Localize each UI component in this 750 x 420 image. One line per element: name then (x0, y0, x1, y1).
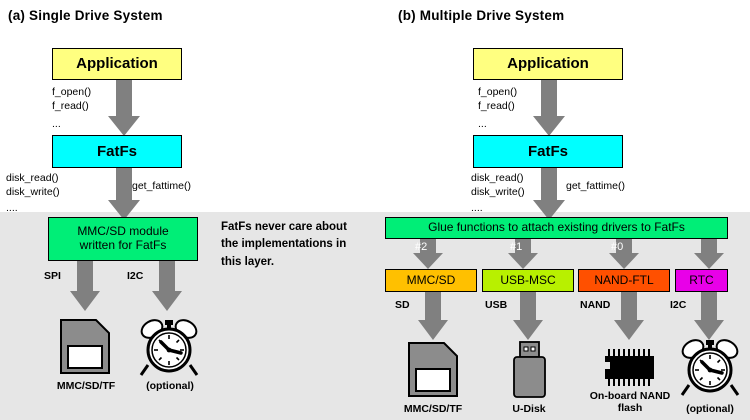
panel-b-application-box[interactable]: Application (473, 48, 623, 80)
panel-a-arrow-fatfs-to-module (108, 168, 140, 220)
layer-note-line2: the implementations in (221, 236, 371, 253)
panel-b-device-caption-rtc-optional: (optional) (671, 403, 749, 415)
panel-a-arrow-i2c (152, 261, 182, 311)
panel-b-driver-box-nand-ftl[interactable]: NAND-FTL (578, 269, 670, 292)
panel-b-heading: (b) Multiple Drive System (398, 8, 564, 23)
panel-a-device-right-caption: (optional) (130, 380, 210, 392)
panel-a-fatfs-box[interactable]: FatFs (52, 135, 182, 168)
panel-b-drive-number-1: #1 (510, 241, 522, 253)
panel-b-driver-label-rtc: RTC (689, 274, 713, 288)
layer-note-line1: FatFs never care about (221, 219, 371, 236)
panel-b-arrow-bus-sd (418, 292, 448, 340)
panel-b-driver-label-mmc-sd: MMC/SD (407, 274, 456, 288)
usb-stick-icon (509, 340, 549, 400)
panel-a-application-label: Application (76, 55, 158, 72)
panel-a-call-disk-ellipsis: .... (6, 202, 18, 214)
panel-b-driver-box-usb-msc[interactable]: USB-MSC (482, 269, 574, 292)
panel-a-device-left-caption: MMC/SD/TF (40, 380, 132, 392)
alarm-clock-icon (679, 335, 741, 397)
panel-b-drive-number-2: #2 (415, 241, 427, 253)
panel-a-call-disk-read: disk_read() (6, 172, 59, 184)
panel-b-glue-label: Glue functions to attach existing driver… (428, 221, 685, 235)
panel-b-call-ellipsis: ... (478, 118, 487, 130)
panel-b-bus-label-nand: NAND (580, 299, 610, 311)
sd-card-icon (406, 341, 460, 399)
panel-b-call-f-read: f_read() (478, 100, 515, 112)
panel-b-glue-box[interactable]: Glue functions to attach existing driver… (385, 217, 728, 239)
panel-b-arrow-fatfs-to-glue (533, 168, 565, 220)
panel-a-bus-i2c-label: I2C (127, 270, 143, 282)
panel-a-call-disk-write: disk_write() (6, 186, 60, 198)
panel-b-call-get-fattime: get_fattime() (566, 180, 625, 192)
panel-b-arrow-glue-to-rtc (694, 239, 724, 269)
panel-b-arrow-bus-i2c (694, 292, 724, 340)
panel-b-call-disk-ellipsis: .... (471, 202, 483, 214)
panel-a-fatfs-label: FatFs (97, 143, 137, 160)
panel-b-arrow-app-to-fatfs (533, 80, 565, 136)
diagram-canvas: (a) Single Drive System Application f_op… (0, 0, 750, 420)
panel-b-driver-box-mmc-sd[interactable]: MMC/SD (385, 269, 477, 292)
panel-b-driver-label-usb-msc: USB-MSC (500, 274, 555, 288)
panel-a-call-get-fattime: get_fattime() (132, 180, 191, 192)
layer-note: FatFs never care about the implementatio… (221, 219, 371, 271)
panel-b-bus-label-i2c: I2C (670, 299, 686, 311)
panel-b-drive-number-0: #0 (611, 241, 623, 253)
panel-b-bus-label-sd: SD (395, 299, 410, 311)
panel-a-call-ellipsis: ... (52, 118, 61, 130)
panel-b-fatfs-box[interactable]: FatFs (473, 135, 623, 168)
panel-a-module-label-line1: MMC/SD module (77, 225, 168, 239)
panel-b-fatfs-label: FatFs (528, 143, 568, 160)
layer-note-line3: this layer. (221, 254, 371, 271)
nand-flash-chip-icon (602, 348, 658, 388)
panel-b-call-disk-read: disk_read() (471, 172, 524, 184)
panel-a-call-f-open: f_open() (52, 86, 91, 98)
panel-a-arrow-app-to-fatfs (108, 80, 140, 136)
panel-b-call-disk-write: disk_write() (471, 186, 525, 198)
panel-b-device-caption-u-disk: U-Disk (492, 403, 566, 415)
panel-b-application-label: Application (507, 55, 589, 72)
panel-a-bus-spi-label: SPI (44, 270, 61, 282)
panel-b-device-caption-mmc-sd-tf: MMC/SD/TF (387, 403, 479, 415)
panel-a-arrow-spi (70, 261, 100, 311)
panel-b-arrow-bus-usb (513, 292, 543, 340)
panel-b-call-f-open: f_open() (478, 86, 517, 98)
panel-b-driver-box-rtc[interactable]: RTC (675, 269, 728, 292)
panel-b-driver-label-nand-ftl: NAND-FTL (594, 274, 653, 288)
panel-a-module-label-line2: written for FatFs (80, 239, 167, 253)
panel-a-application-box[interactable]: Application (52, 48, 182, 80)
panel-a-call-f-read: f_read() (52, 100, 89, 112)
panel-b-device-caption-nand-flash: On-board NAND flash (585, 390, 675, 414)
panel-b-bus-label-usb: USB (485, 299, 507, 311)
panel-a-module-box[interactable]: MMC/SD module written for FatFs (48, 217, 198, 261)
sd-card-icon (58, 318, 112, 376)
panel-a-heading: (a) Single Drive System (8, 8, 163, 23)
panel-b-arrow-bus-nand (614, 292, 644, 340)
alarm-clock-icon (138, 315, 200, 377)
